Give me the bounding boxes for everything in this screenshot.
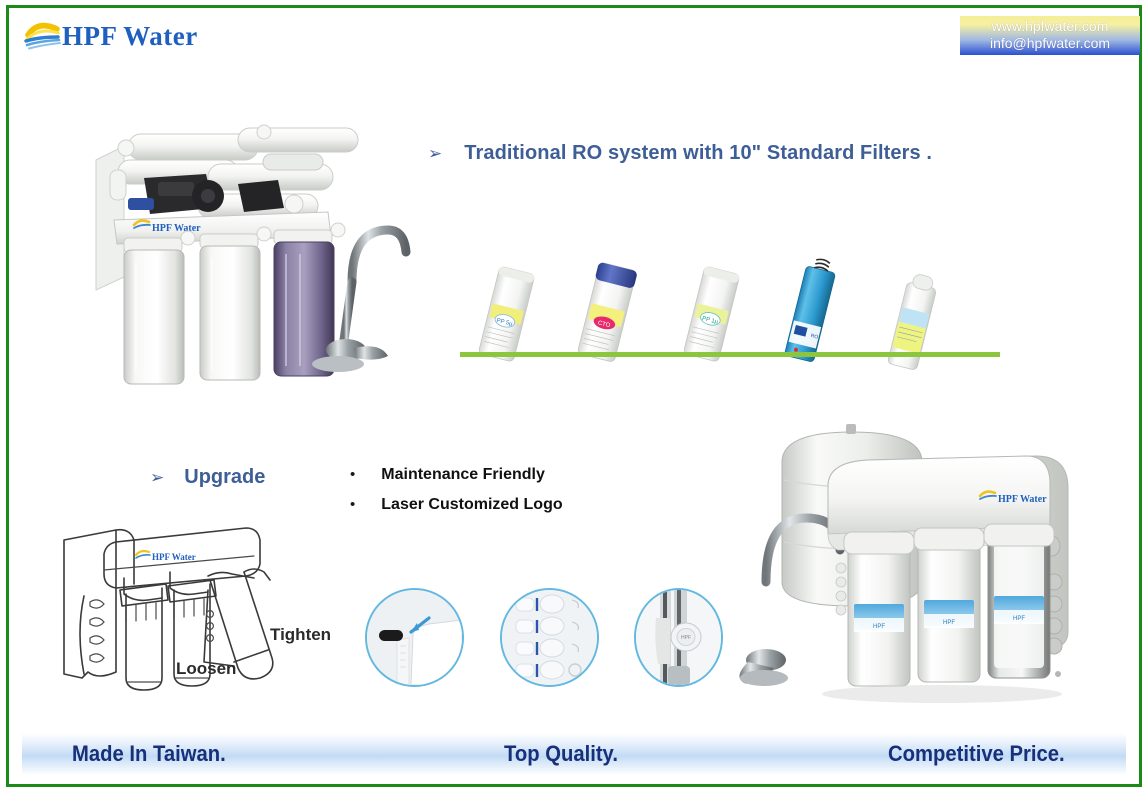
green-shelf-line: [460, 352, 1000, 357]
faucet-detail-closeup: HPF: [634, 588, 723, 687]
upgrade-bullet-row: ➢ Upgrade: [150, 466, 265, 489]
headline-bullet-row: ➢ Traditional RO system with 10" Standar…: [428, 142, 932, 165]
feature-label: Laser Customized Logo: [381, 496, 562, 514]
slogan-competitive-price: Competitive Price.: [888, 741, 1065, 767]
filter-cartridges-row-photo: PP 5µ CTO: [470, 258, 1010, 358]
list-item: • Laser Customized Logo: [350, 496, 563, 514]
list-item: • Maintenance Friendly: [350, 466, 563, 484]
headline-text: Traditional RO system with 10" Standard …: [464, 142, 932, 165]
tighten-label: Tighten: [270, 625, 331, 644]
feature-label: Maintenance Friendly: [381, 466, 545, 484]
brand-name: HPF Water: [62, 21, 198, 52]
svg-text:HPF: HPF: [943, 620, 955, 626]
slogan-top-quality: Top Quality.: [504, 741, 618, 767]
traditional-ro-system-photo: HPF Water: [88, 112, 418, 397]
email-text[interactable]: info@hpfwater.com: [966, 35, 1134, 52]
upgraded-ro-unit-photo: HPF Water HPF HPF: [742, 422, 1082, 710]
footer-banner: Made In Taiwan. Top Quality. Competitive…: [22, 733, 1126, 775]
website-text[interactable]: www.hpfwater.com: [966, 18, 1134, 35]
feature-list: • Maintenance Friendly • Laser Customize…: [350, 466, 563, 526]
contact-info-box: www.hpfwater.com info@hpfwater.com: [960, 16, 1140, 55]
slide-canvas: HPF Water www.hpfwater.com info@hpfwater…: [0, 0, 1148, 793]
laser-logo-closeup: [365, 588, 464, 687]
svg-text:HPF: HPF: [681, 635, 691, 641]
arrow-bullet-icon: ➢: [150, 470, 164, 487]
svg-text:HPF Water: HPF Water: [152, 552, 196, 562]
dot-bullet-icon: •: [350, 497, 355, 512]
maintenance-line-drawing: HPF Water: [58, 522, 358, 700]
upgrade-label: Upgrade: [184, 466, 265, 489]
loosen-label: Loosen: [176, 659, 236, 678]
dot-bullet-icon: •: [350, 467, 355, 482]
quick-connect-fittings-closeup: [500, 588, 599, 687]
slogan-made-in-taiwan: Made In Taiwan.: [72, 741, 226, 767]
brand-logo: HPF Water: [24, 16, 198, 56]
svg-text:HPF Water: HPF Water: [998, 494, 1047, 505]
sun-wave-logo-icon: [24, 20, 64, 52]
svg-text:HPF: HPF: [1013, 616, 1025, 622]
svg-text:HPF Water: HPF Water: [152, 223, 201, 234]
arrow-bullet-icon: ➢: [428, 146, 442, 163]
svg-text:HPF: HPF: [873, 624, 885, 630]
